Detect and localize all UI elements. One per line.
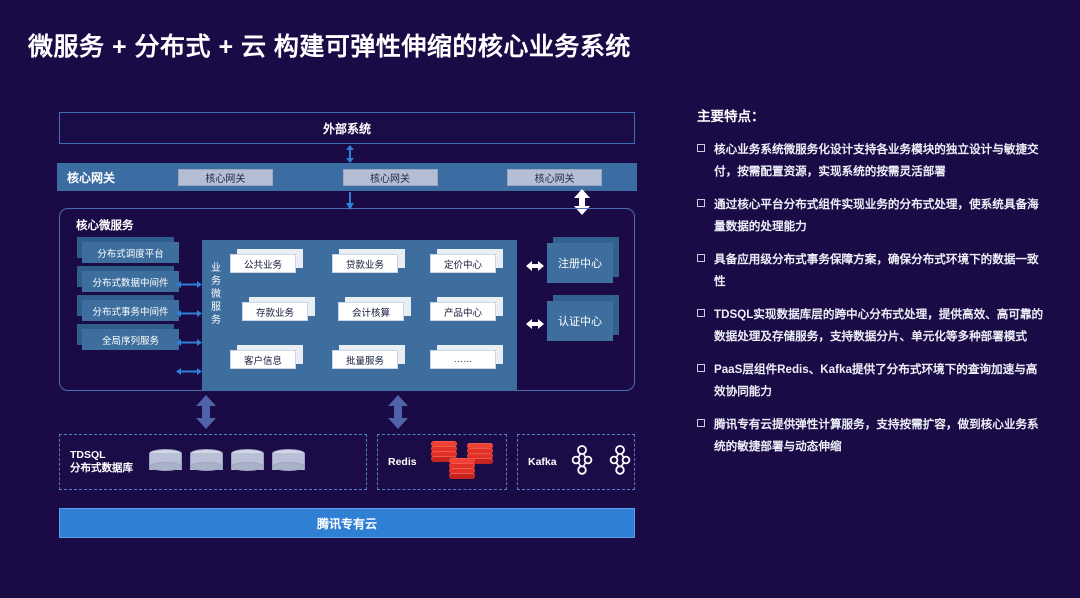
arrow-core-to-paas bbox=[387, 395, 409, 429]
service-label: 定价中心 bbox=[430, 254, 496, 273]
service-label: 会计核算 bbox=[338, 302, 404, 321]
core-microservices-container: 核心微服务 分布式调度平台 分布式数据中间件 分布式事务中间件 全局序列服务 bbox=[59, 208, 635, 391]
arrow-left-2 bbox=[176, 309, 202, 318]
service-tile[interactable]: 产品中心 bbox=[430, 302, 496, 321]
feature-bullet: 核心业务系统微服务化设计支持各业务模块的独立设计与敏捷交付，按需配置资源，实现系… bbox=[697, 139, 1047, 183]
kafka-icon bbox=[571, 445, 593, 480]
redis-box: Redis bbox=[377, 434, 507, 490]
service-tile[interactable]: 定价中心 bbox=[430, 254, 496, 273]
tdsql-label-line1: TDSQL bbox=[70, 449, 106, 461]
component-label: 认证中心 bbox=[547, 301, 613, 341]
gateway-slot-2: 核心网关 bbox=[308, 169, 473, 186]
business-microservices-vertical-label: 业务微服务 bbox=[208, 262, 224, 327]
service-label: 客户信息 bbox=[230, 350, 296, 369]
tdsql-node-icons bbox=[149, 449, 305, 475]
gateway-slot-1: 核心网关 bbox=[143, 169, 308, 186]
bullet-square-icon bbox=[697, 254, 705, 262]
arrow-panel-to-auth bbox=[526, 317, 544, 329]
service-label: 存款业务 bbox=[242, 302, 308, 321]
core-gateway-bar: 核心网关 核心网关 核心网关 核心网关 bbox=[57, 163, 637, 191]
arrow-left-3 bbox=[176, 338, 202, 347]
component-label: 分布式数据中间件 bbox=[82, 271, 179, 292]
core-microservices-label: 核心微服务 bbox=[76, 217, 134, 233]
business-service-grid: 公共业务 贷款业务 定价中心 存款业务 bbox=[230, 254, 510, 380]
feature-bullet: PaaS层组件Redis、Kafka提供了分布式环境下的查询加速与高效协同能力 bbox=[697, 359, 1047, 403]
slide-canvas: 微服务 + 分布式 + 云 构建可弹性伸缩的核心业务系统 外部系统 核心网关 核… bbox=[0, 0, 1080, 598]
service-label: 公共业务 bbox=[230, 254, 296, 273]
redis-icon bbox=[449, 458, 475, 482]
tdsql-box: TDSQL 分布式数据库 bbox=[59, 434, 367, 490]
service-tile[interactable]: 贷款业务 bbox=[332, 254, 398, 273]
component-data-middleware[interactable]: 分布式数据中间件 bbox=[82, 271, 179, 292]
redis-icons bbox=[427, 439, 506, 485]
service-label: 产品中心 bbox=[430, 302, 496, 321]
feature-bullet: TDSQL实现数据库层的跨中心分布式处理，提供高效、高可靠的数据处理及存储服务，… bbox=[697, 304, 1047, 348]
service-tile[interactable]: 会计核算 bbox=[338, 302, 404, 321]
feature-text: 核心业务系统微服务化设计支持各业务模块的独立设计与敏捷交付，按需配置资源，实现系… bbox=[714, 139, 1047, 183]
kafka-label: Kafka bbox=[528, 456, 557, 469]
component-auth-center[interactable]: 认证中心 bbox=[547, 301, 619, 341]
kafka-box: Kafka bbox=[517, 434, 635, 490]
service-tile[interactable]: 存款业务 bbox=[242, 302, 308, 321]
bullet-square-icon bbox=[697, 419, 705, 427]
feature-text: PaaS层组件Redis、Kafka提供了分布式环境下的查询加速与高效协同能力 bbox=[714, 359, 1047, 403]
feature-bullet: 通过核心平台分布式组件实现业务的分布式处理，使系统具备海量数据的处理能力 bbox=[697, 194, 1047, 238]
kafka-icons bbox=[571, 445, 631, 480]
external-system-label: 外部系统 bbox=[323, 120, 371, 137]
arrow-external-to-gateway bbox=[345, 145, 355, 163]
component-registry-center[interactable]: 注册中心 bbox=[547, 243, 619, 283]
core-gateway-title: 核心网关 bbox=[67, 169, 143, 186]
component-label: 分布式调度平台 bbox=[82, 242, 179, 263]
data-layer: TDSQL 分布式数据库 Redis Kaf bbox=[59, 434, 635, 490]
component-global-sequence-service[interactable]: 全局序列服务 bbox=[82, 329, 179, 350]
tdsql-label-line2: 分布式数据库 bbox=[70, 462, 133, 474]
redis-label: Redis bbox=[388, 456, 417, 469]
gateway-slot-3: 核心网关 bbox=[472, 169, 637, 186]
service-tile[interactable]: …… bbox=[430, 350, 496, 369]
arrow-left-4 bbox=[176, 367, 202, 376]
page-title: 微服务 + 分布式 + 云 构建可弹性伸缩的核心业务系统 bbox=[28, 27, 631, 63]
cloud-label: 腾讯专有云 bbox=[317, 515, 377, 532]
database-icon bbox=[272, 449, 305, 475]
gateway-chip-2[interactable]: 核心网关 bbox=[343, 169, 438, 186]
external-system-box: 外部系统 bbox=[59, 112, 635, 144]
key-features-title: 主要特点： bbox=[697, 105, 1047, 125]
gateway-chip-3[interactable]: 核心网关 bbox=[507, 169, 602, 186]
tdsql-label: TDSQL 分布式数据库 bbox=[70, 449, 133, 475]
arrow-panel-to-registry bbox=[526, 259, 544, 271]
arrow-core-to-tdsql bbox=[195, 395, 217, 429]
bullet-square-icon bbox=[697, 364, 705, 372]
feature-text: 腾讯专有云提供弹性计算服务，支持按需扩容，做到核心业务系统的敏捷部署与动态伸缩 bbox=[714, 414, 1047, 458]
arrow-left-1 bbox=[176, 280, 202, 289]
feature-text: 具备应用级分布式事务保障方案，确保分布式环境下的数据一致性 bbox=[714, 249, 1047, 293]
feature-text: TDSQL实现数据库层的跨中心分布式处理，提供高效、高可靠的数据处理及存储服务，… bbox=[714, 304, 1047, 348]
architecture-diagram: 外部系统 核心网关 核心网关 核心网关 核心网关 bbox=[57, 112, 637, 542]
component-label: 分布式事务中间件 bbox=[82, 300, 179, 321]
feature-bullet: 腾讯专有云提供弹性计算服务，支持按需扩容，做到核心业务系统的敏捷部署与动态伸缩 bbox=[697, 414, 1047, 458]
left-component-list: 分布式调度平台 分布式数据中间件 分布式事务中间件 全局序列服务 bbox=[82, 242, 179, 358]
service-tile[interactable]: 客户信息 bbox=[230, 350, 296, 369]
component-scheduling-platform[interactable]: 分布式调度平台 bbox=[82, 242, 179, 263]
service-tile[interactable]: 批量服务 bbox=[332, 350, 398, 369]
bullet-square-icon bbox=[697, 199, 705, 207]
business-microservices-panel: 业务微服务 公共业务 贷款业务 定价中心 bbox=[202, 240, 517, 391]
kafka-icon bbox=[609, 445, 631, 480]
key-features-panel: 主要特点： 核心业务系统微服务化设计支持各业务模块的独立设计与敏捷交付，按需配置… bbox=[697, 105, 1047, 469]
feature-text: 通过核心平台分布式组件实现业务的分布式处理，使系统具备海量数据的处理能力 bbox=[714, 194, 1047, 238]
service-label: …… bbox=[430, 350, 496, 369]
feature-bullet: 具备应用级分布式事务保障方案，确保分布式环境下的数据一致性 bbox=[697, 249, 1047, 293]
component-label: 全局序列服务 bbox=[82, 329, 179, 350]
service-label: 贷款业务 bbox=[332, 254, 398, 273]
right-component-list: 注册中心 认证中心 bbox=[547, 243, 619, 341]
service-label: 批量服务 bbox=[332, 350, 398, 369]
bullet-square-icon bbox=[697, 309, 705, 317]
component-label: 注册中心 bbox=[547, 243, 613, 283]
database-icon bbox=[190, 449, 223, 475]
bullet-square-icon bbox=[697, 144, 705, 152]
database-icon bbox=[149, 449, 182, 475]
component-transaction-middleware[interactable]: 分布式事务中间件 bbox=[82, 300, 179, 321]
gateway-chip-1[interactable]: 核心网关 bbox=[178, 169, 273, 186]
service-tile[interactable]: 公共业务 bbox=[230, 254, 296, 273]
tencent-private-cloud-bar: 腾讯专有云 bbox=[59, 508, 635, 538]
database-icon bbox=[231, 449, 264, 475]
